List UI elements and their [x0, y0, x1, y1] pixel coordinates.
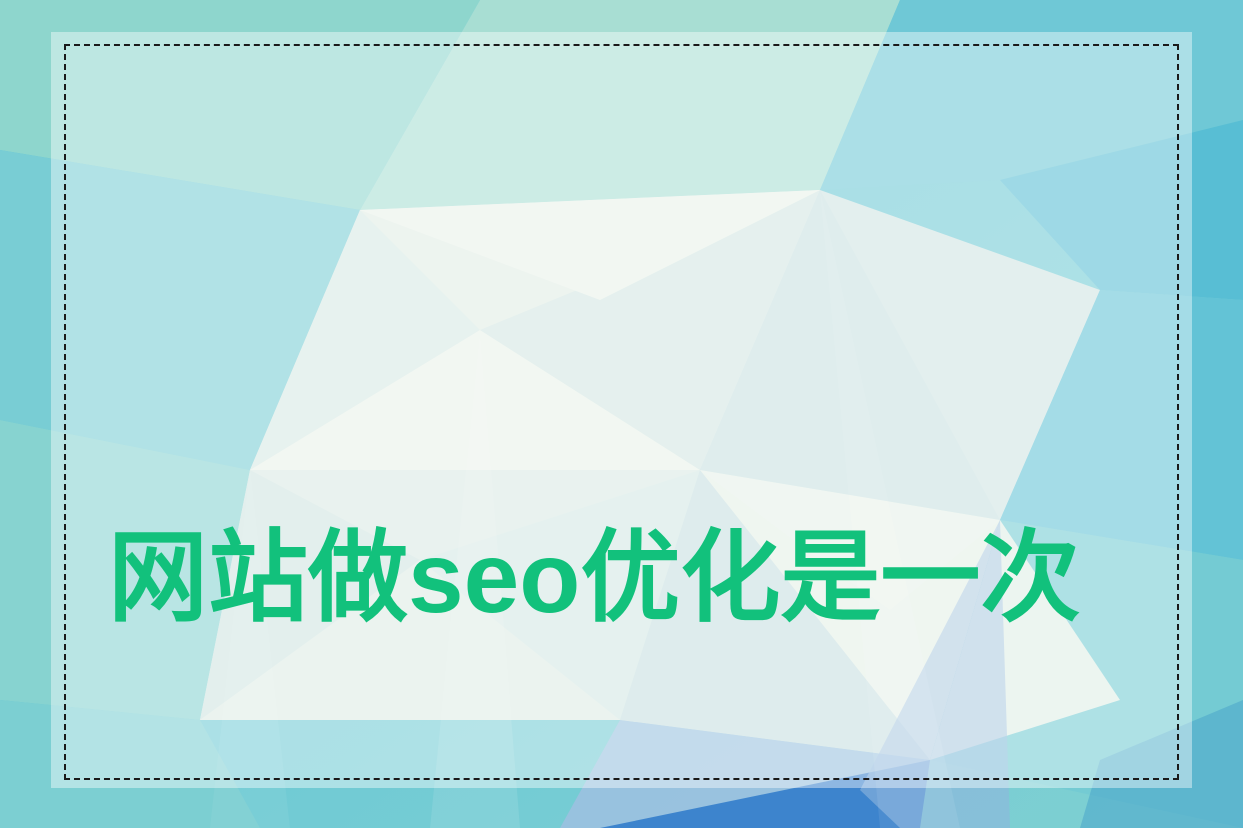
headline-line-1: 网站做seo优化是一次 — [108, 508, 1118, 648]
page-title: 网站做seo优化是一次 性的还是需要持续优 — [108, 228, 1118, 828]
seo-article-banner: 网站做seo优化是一次 性的还是需要持续优 — [0, 0, 1243, 828]
